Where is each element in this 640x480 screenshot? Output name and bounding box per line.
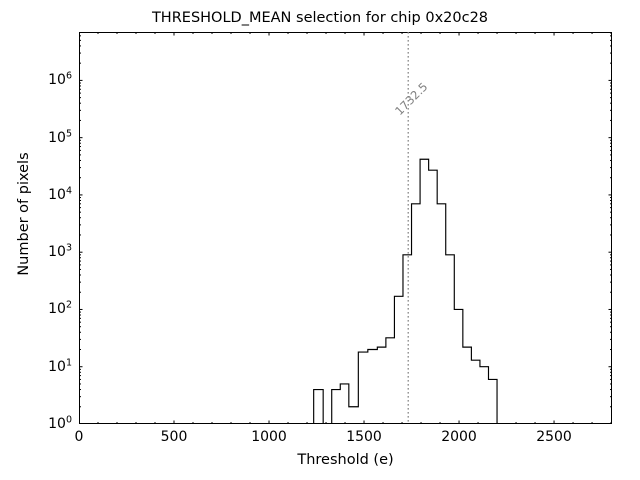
y-tick-label: 101 — [14, 359, 72, 375]
x-tick-label: 1000 — [251, 429, 287, 445]
matplotlib-figure: THRESHOLD_MEAN selection for chip 0x20c2… — [0, 0, 640, 480]
x-axis-title: Threshold (e) — [79, 452, 612, 468]
x-axis-minor-ticks — [98, 32, 611, 424]
x-tick-label: 2500 — [536, 429, 572, 445]
x-tick-label: 0 — [75, 429, 84, 445]
histogram-plot — [79, 32, 612, 424]
y-axis-title: Number of pixels — [16, 84, 32, 344]
y-axis-minor-ticks — [79, 32, 612, 407]
histogram-step-line — [295, 159, 497, 424]
x-tick-label: 1500 — [346, 429, 382, 445]
x-tick-label: 2000 — [441, 429, 477, 445]
y-axis-major-ticks — [79, 80, 612, 424]
x-axis-major-ticks — [79, 32, 554, 424]
page-title: THRESHOLD_MEAN selection for chip 0x20c2… — [0, 10, 640, 26]
y-tick-label: 100 — [14, 416, 72, 432]
x-tick-label: 500 — [161, 429, 188, 445]
